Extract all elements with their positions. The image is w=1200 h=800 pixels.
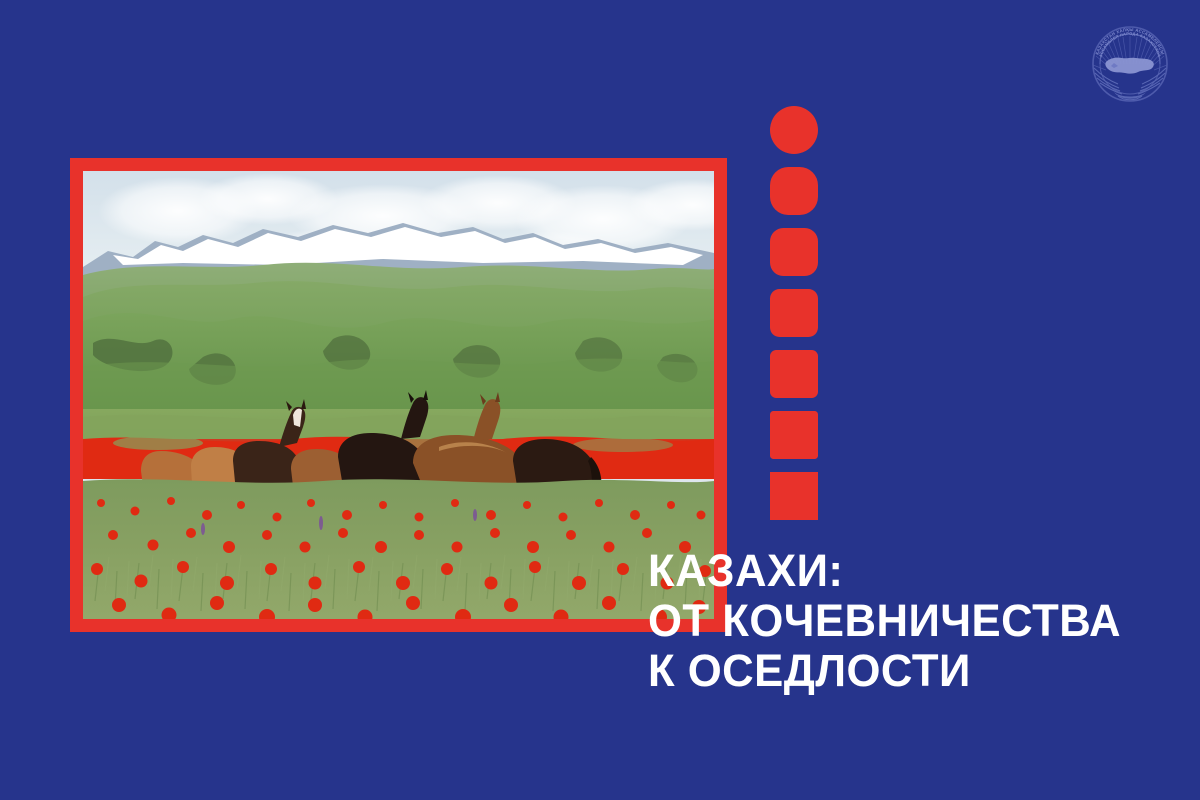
dot-shape-4 — [770, 289, 818, 337]
dot-shape-6 — [770, 411, 818, 459]
assembly-of-people-of-kazakhstan-emblem: ҚАЗАҚСТАН ХАЛҚЫ АССАМБЛЕЯСЫ АССАМБЛЕЯ НА… — [1084, 18, 1176, 110]
dot-shape-1 — [770, 106, 818, 154]
photo-frame — [70, 158, 727, 632]
dot-shape-2 — [770, 167, 818, 215]
title-line-3: К ОСЕДЛОСТИ — [648, 646, 1121, 696]
kazakh-steppe-horses-photo — [83, 171, 714, 619]
poster-root: КАЗАХИ: ОТ КОЧЕВНИЧЕСТВА К ОСЕДЛОСТИ — [0, 0, 1200, 800]
morphing-dot-column — [770, 106, 818, 520]
dot-shape-3 — [770, 228, 818, 276]
dot-shape-5 — [770, 350, 818, 398]
dot-shape-7 — [770, 472, 818, 520]
emblem-artwork: ҚАЗАҚСТАН ХАЛҚЫ АССАМБЛЕЯСЫ АССАМБЛЕЯ НА… — [1084, 18, 1176, 110]
poster-title: КАЗАХИ: ОТ КОЧЕВНИЧЕСТВА К ОСЕДЛОСТИ — [648, 546, 1121, 696]
title-line-2: ОТ КОЧЕВНИЧЕСТВА — [648, 596, 1121, 646]
title-line-1: КАЗАХИ: — [648, 546, 1121, 596]
photo-artwork — [83, 171, 714, 619]
